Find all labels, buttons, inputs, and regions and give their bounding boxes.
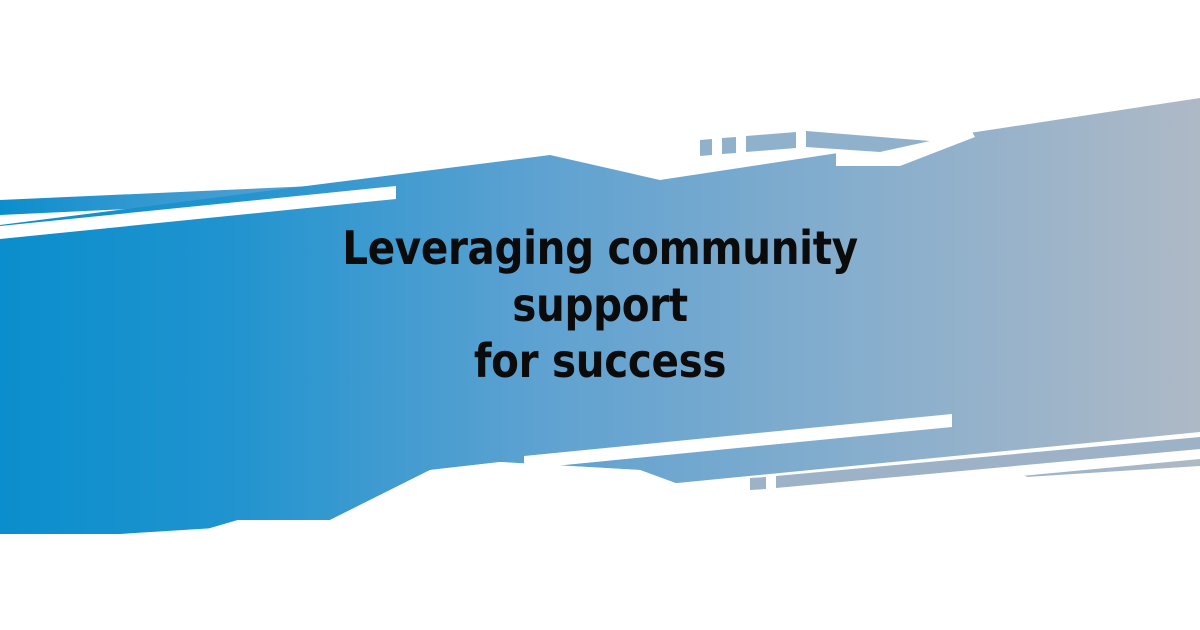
gradient-band-group <box>0 98 1200 630</box>
bottom-dash-1-icon <box>750 477 766 490</box>
dash-2-icon <box>722 137 736 154</box>
banner-root: Leveraging community support for success <box>0 0 1200 630</box>
banner-graphic <box>0 0 1200 630</box>
dash-1-icon <box>700 139 712 156</box>
dash-3-icon <box>746 132 796 152</box>
